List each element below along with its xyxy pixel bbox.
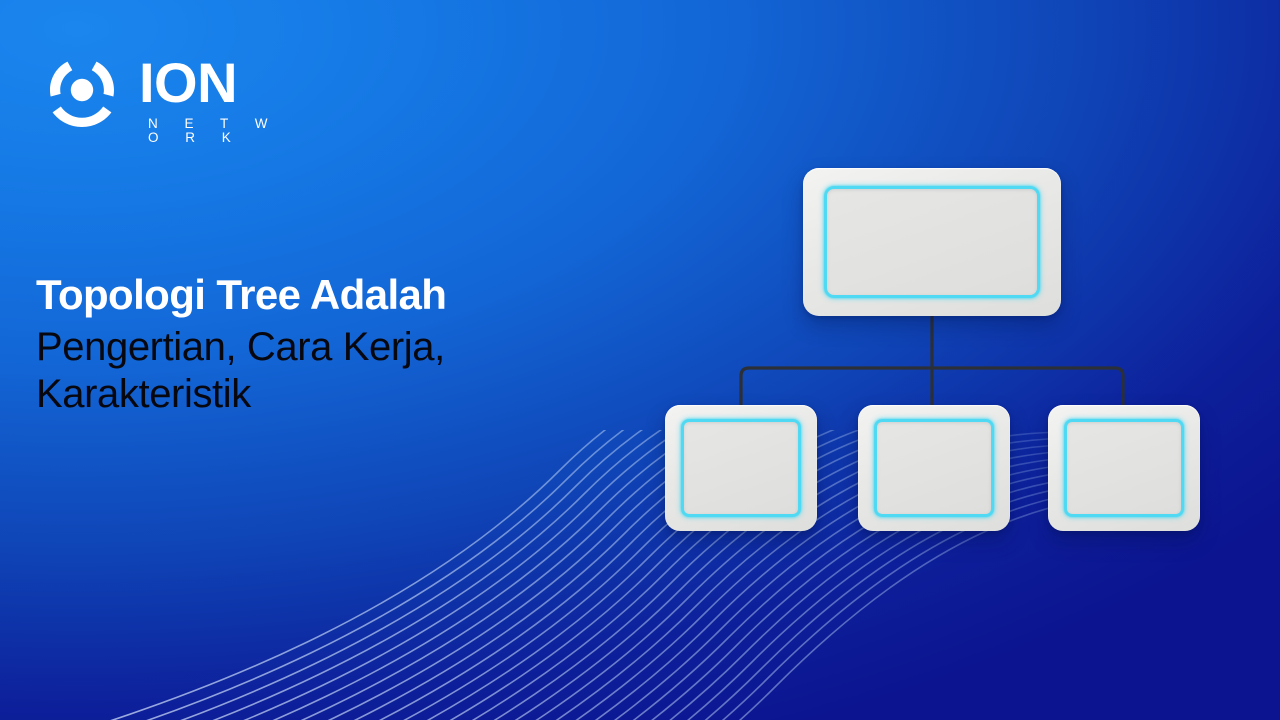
logo-subtext: N E T W O R K [148,117,296,144]
brand-logo[interactable]: ION N E T W O R K [36,48,296,144]
tree-node-child-1[interactable] [665,405,817,531]
tree-node-child-2[interactable] [858,405,1010,531]
tree-node-child-3[interactable] [1048,405,1200,531]
tree-node-child-3-inner [1064,419,1184,517]
tree-node-child-2-inner [874,419,994,517]
page-title: Topologi Tree Adalah [36,272,636,317]
tree-topology-diagram [640,150,1240,560]
tree-node-root-inner [824,186,1040,298]
tree-node-root[interactable] [803,168,1061,316]
logo-wordmark: ION [139,55,237,111]
headline-block: Topologi Tree Adalah Pengertian, Cara Ke… [36,272,636,417]
ion-orbit-mark-icon [36,48,128,140]
banner-canvas: ION N E T W O R K Topologi Tree Adalah P… [0,0,1280,720]
page-subtitle: Pengertian, Cara Kerja, Karakteristik [36,324,596,417]
tree-node-child-1-inner [681,419,801,517]
